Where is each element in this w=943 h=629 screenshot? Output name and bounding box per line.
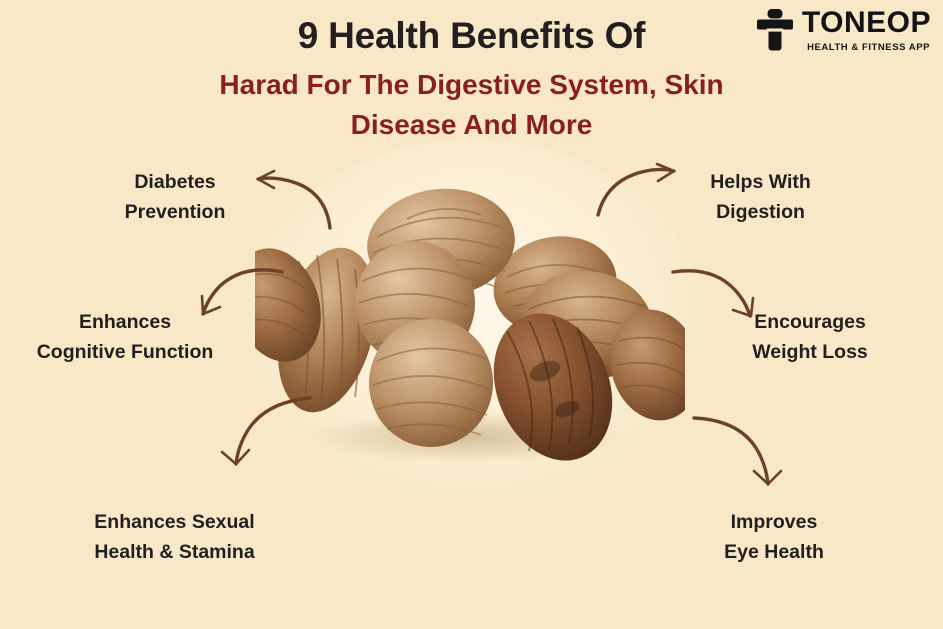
logo-tagline: HEALTH & FITNESS APP <box>807 43 930 53</box>
benefit-label-diabetes-prevention: Diabetes Prevention <box>60 168 290 227</box>
benefit-label-encourages-weight-loss: Encourages Weight Loss <box>700 308 920 367</box>
harad-fruit-pile-graphic <box>255 165 685 465</box>
benefit-label-enhances-sexual-health: Enhances Sexual Health & Stamina <box>52 508 297 567</box>
benefit-label-helps-with-digestion: Helps With Digestion <box>648 168 873 227</box>
harad-fruit-pile-image <box>255 165 685 465</box>
benefit-label-enhances-cognitive-function: Enhances Cognitive Function <box>6 308 244 367</box>
benefit-label-improves-eye-health: Improves Eye Health <box>668 508 880 567</box>
logo-wordmark: TONEOP <box>802 8 931 38</box>
title-line-3: Disease And More <box>351 109 593 140</box>
toneop-t-mark-icon <box>755 8 795 52</box>
infographic-canvas: 9 Health Benefits Of Harad For The Diges… <box>0 0 943 629</box>
arrow-right-down-icon <box>694 418 781 484</box>
brand-logo[interactable]: TONEOP HEALTH & FITNESS APP <box>755 8 931 53</box>
title-line-2: Harad For The Digestive System, Skin <box>219 69 723 100</box>
